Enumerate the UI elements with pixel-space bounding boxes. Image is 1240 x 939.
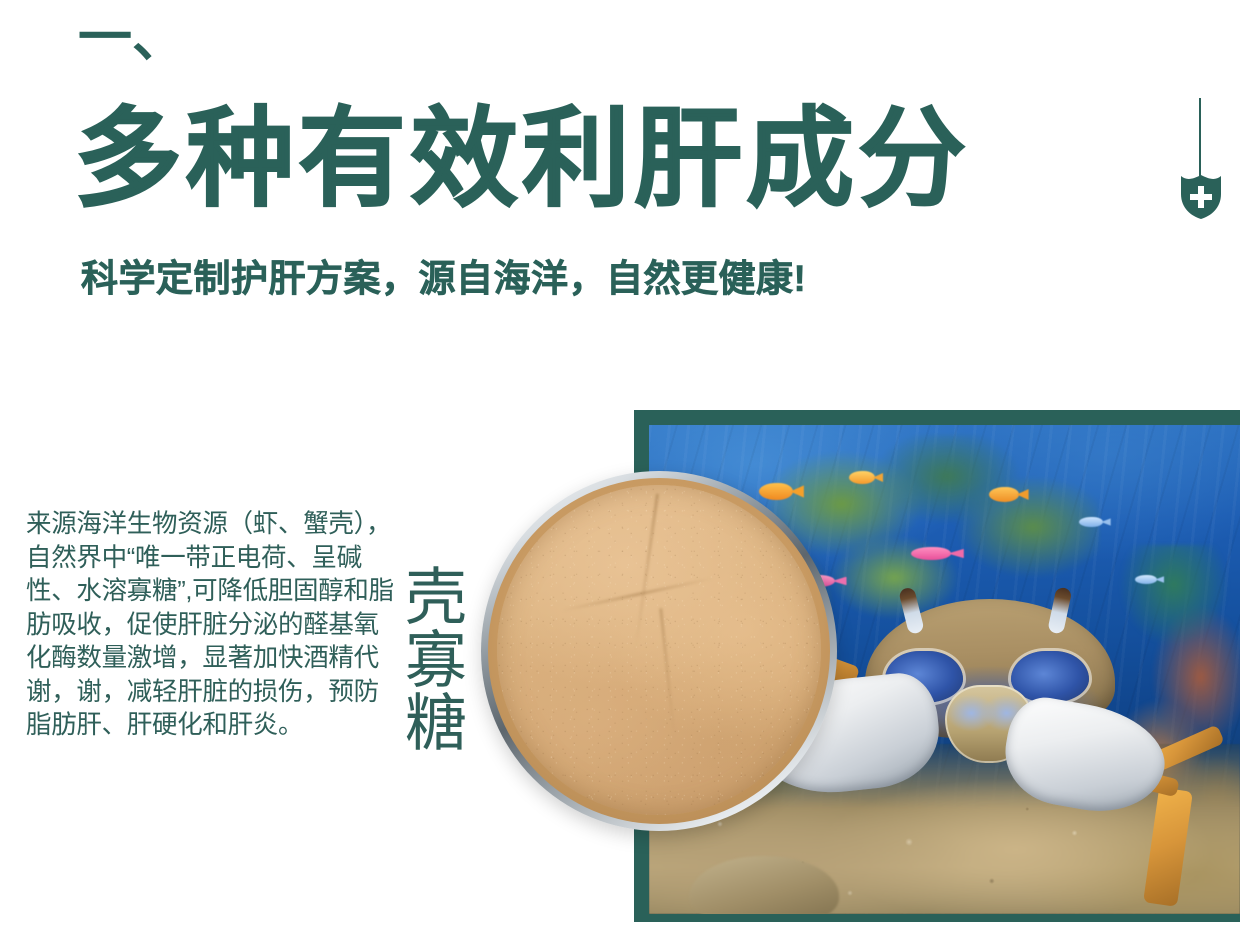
- fish: [759, 483, 793, 500]
- section-number: 一、: [78, 8, 186, 68]
- shield-plus-icon: [1178, 170, 1224, 220]
- crab-leg: [1143, 787, 1193, 907]
- crab: [799, 593, 1219, 893]
- powder-grain-texture: [497, 485, 821, 815]
- shield-hanger: [1178, 98, 1224, 226]
- page-title: 多种有效利肝成分: [74, 96, 970, 222]
- ingredient-name-vertical: 壳寡糖: [396, 564, 462, 753]
- fish: [989, 487, 1019, 502]
- fish: [1135, 575, 1157, 584]
- ingredient-description: 来源海洋生物资源（虾、蟹壳），自然界中“唯一带正电荷、呈碱性、水溶寡糖”,可降低…: [26, 508, 398, 743]
- fish: [1079, 517, 1103, 527]
- crab-claw-right: [997, 692, 1173, 822]
- chitosan-oligosaccharide-powder-dish: [481, 471, 837, 831]
- fish: [911, 547, 951, 560]
- hanger-line: [1199, 98, 1201, 176]
- page-subtitle: 科学定制护肝方案，源自海洋，自然更健康!: [81, 255, 806, 303]
- fish: [849, 471, 875, 484]
- promo-page: 一、 多种有效利肝成分 科学定制护肝方案，源自海洋，自然更健康! 来源海洋生物资…: [0, 0, 1240, 939]
